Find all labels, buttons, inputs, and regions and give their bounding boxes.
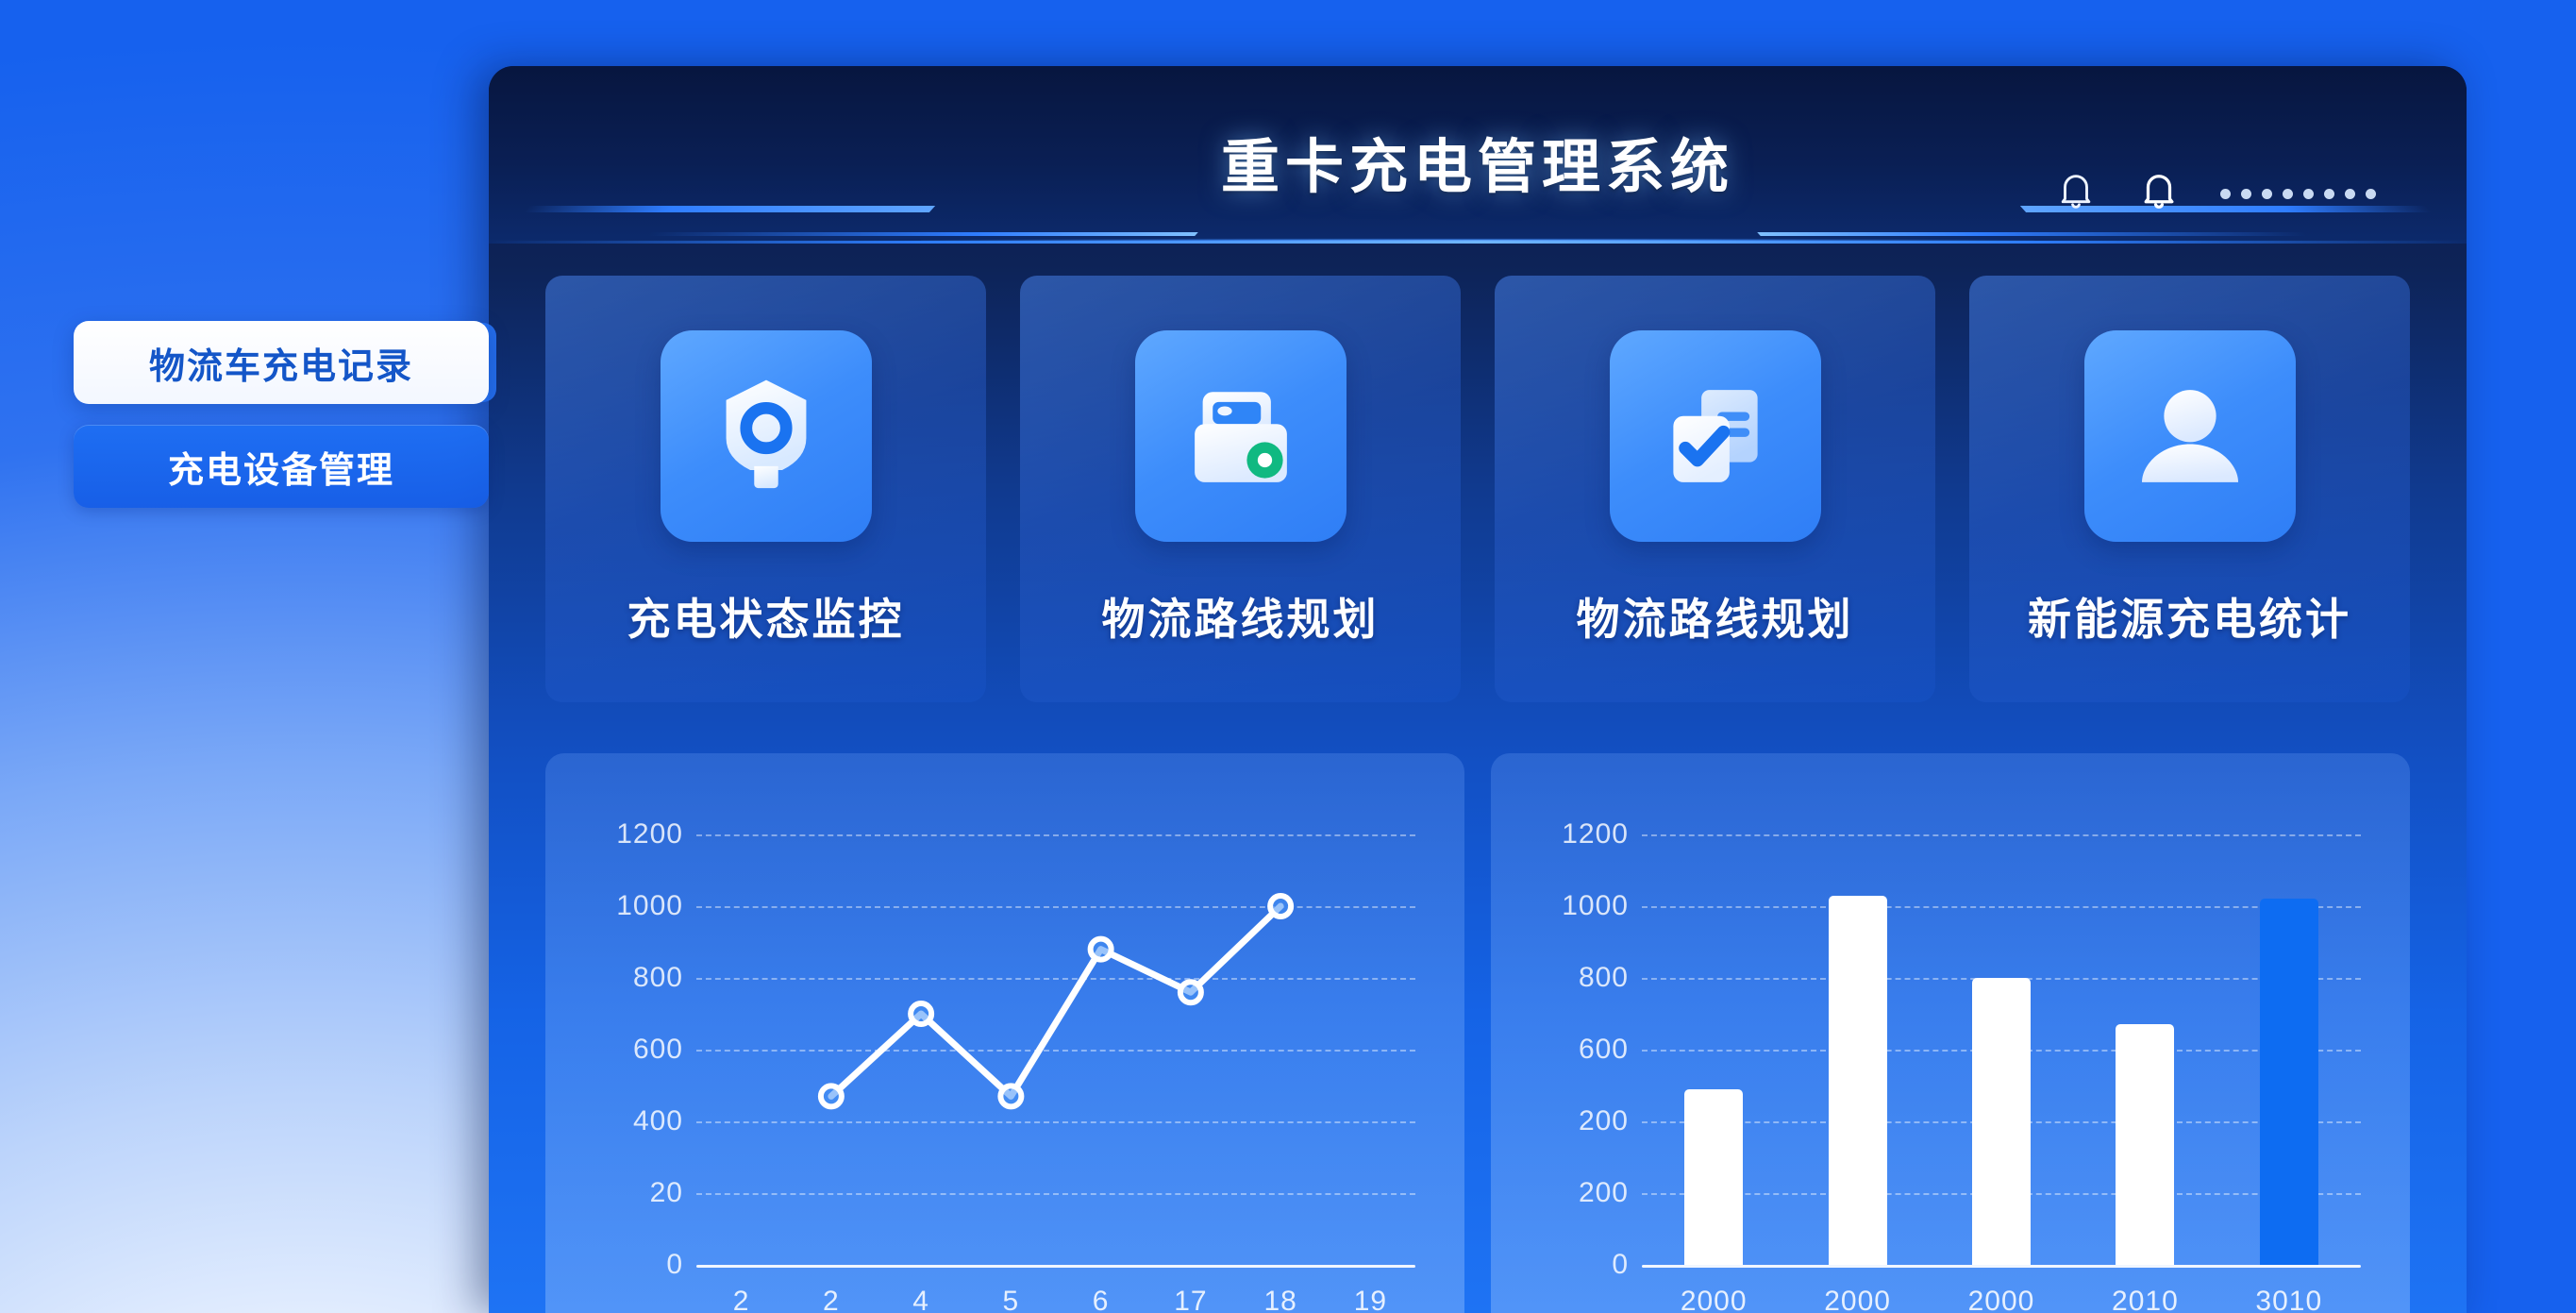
x-axis-tick-label: 2000 <box>1824 1286 1891 1313</box>
header-tools <box>2054 168 2376 220</box>
header-decoration-left-line <box>524 206 935 212</box>
sidebar-item-charging-device-management[interactable]: 充电设备管理 <box>74 425 489 508</box>
feature-card-logistics-route-planning-2[interactable]: 物流路线规划 <box>1495 276 1935 702</box>
gridline <box>1642 834 2361 836</box>
data-point-marker[interactable] <box>911 1003 931 1024</box>
line-chart-card: 1200100080060040020022456171819 <box>545 753 1464 1313</box>
y-axis-labels: 120010008006002002000 <box>1523 753 1629 1313</box>
feature-card-label: 新能源充电统计 <box>2028 585 2351 648</box>
main-panel: 重卡充电管理系统 <box>489 66 2467 1313</box>
y-axis-tick-label: 200 <box>1579 1177 1629 1209</box>
sidebar-item-label: 充电设备管理 <box>168 441 394 493</box>
data-point-marker[interactable] <box>1000 1086 1021 1106</box>
y-axis-tick-label: 200 <box>1579 1105 1629 1137</box>
gridline <box>1642 906 2361 908</box>
bar[interactable] <box>1829 896 1887 1265</box>
feature-card-charging-status-monitor[interactable]: 充电状态监控 <box>545 276 986 702</box>
dot-icon <box>2345 189 2355 199</box>
feature-card-grid: 充电状态监控 <box>545 276 2410 702</box>
y-axis-tick-label: 600 <box>1579 1034 1629 1066</box>
data-point-marker[interactable] <box>1180 982 1201 1002</box>
wallet-icon <box>1135 330 1347 542</box>
x-axis-tick-label: 2010 <box>2112 1286 2179 1313</box>
shield-location-icon <box>661 330 872 542</box>
line-chart: 1200100080060040020022456171819 <box>545 753 1464 1313</box>
dot-icon <box>2220 189 2231 199</box>
feature-card-label: 充电状态监控 <box>627 585 905 648</box>
app-root: 物流车充电记录 充电设备管理 重卡充电管理系统 <box>0 0 2576 1313</box>
y-axis-tick-label: 800 <box>1579 962 1629 994</box>
x-axis-tick-label: 3010 <box>2255 1286 2322 1313</box>
header-underline <box>489 241 2467 244</box>
data-point-marker[interactable] <box>821 1086 842 1106</box>
data-point-marker[interactable] <box>1270 896 1291 917</box>
y-axis-tick-label: 1000 <box>1562 890 1629 922</box>
more-options-icon[interactable] <box>2220 189 2376 199</box>
dot-icon <box>2366 189 2376 199</box>
sidebar: 物流车充电记录 充电设备管理 <box>74 321 489 508</box>
sidebar-item-label: 物流车充电记录 <box>149 337 413 389</box>
dot-icon <box>2283 189 2293 199</box>
data-point-marker[interactable] <box>1091 939 1112 960</box>
document-check-icon <box>1610 330 1821 542</box>
x-axis-tick-label: 2000 <box>1681 1286 1748 1313</box>
bar-chart: 1200100080060020020002000200020002010301… <box>1491 753 2410 1313</box>
bar-chart-card: 1200100080060020020002000200020002010301… <box>1491 753 2410 1313</box>
feature-card-new-energy-charging-statistics[interactable]: 新能源充电统计 <box>1969 276 2410 702</box>
dot-icon <box>2324 189 2334 199</box>
bell-outline-icon[interactable] <box>2054 168 2098 220</box>
y-axis-tick-label: 0 <box>1612 1249 1629 1281</box>
dot-icon <box>2303 189 2314 199</box>
user-icon <box>2084 330 2296 542</box>
line-series <box>545 753 1464 1313</box>
header-decoration-glow <box>921 239 2034 244</box>
sidebar-item-logistics-charging-records[interactable]: 物流车充电记录 <box>74 321 489 404</box>
header-decoration-left-line-2 <box>647 232 1198 236</box>
bell-icon[interactable] <box>2137 168 2181 220</box>
x-axis-line <box>1642 1265 2361 1268</box>
y-axis-tick-label: 1200 <box>1562 818 1629 850</box>
x-axis-tick-label: 2000 <box>1968 1286 2035 1313</box>
bar[interactable] <box>2116 1024 2174 1265</box>
bar[interactable] <box>1972 978 2031 1265</box>
panel-header: 重卡充电管理系统 <box>489 66 2467 244</box>
page-title: 重卡充电管理系统 <box>1221 119 1734 204</box>
chart-grid: 1200100080060040020022456171819 12001000… <box>545 753 2410 1313</box>
dot-icon <box>2262 189 2272 199</box>
feature-card-label: 物流路线规划 <box>1102 585 1380 648</box>
bar-highlighted[interactable] <box>2260 899 2318 1265</box>
feature-card-logistics-route-planning-1[interactable]: 物流路线规划 <box>1020 276 1461 702</box>
bar[interactable] <box>1684 1089 1743 1265</box>
header-decoration-right-line-2 <box>1757 232 2308 236</box>
dot-icon <box>2241 189 2251 199</box>
feature-card-label: 物流路线规划 <box>1577 585 1854 648</box>
